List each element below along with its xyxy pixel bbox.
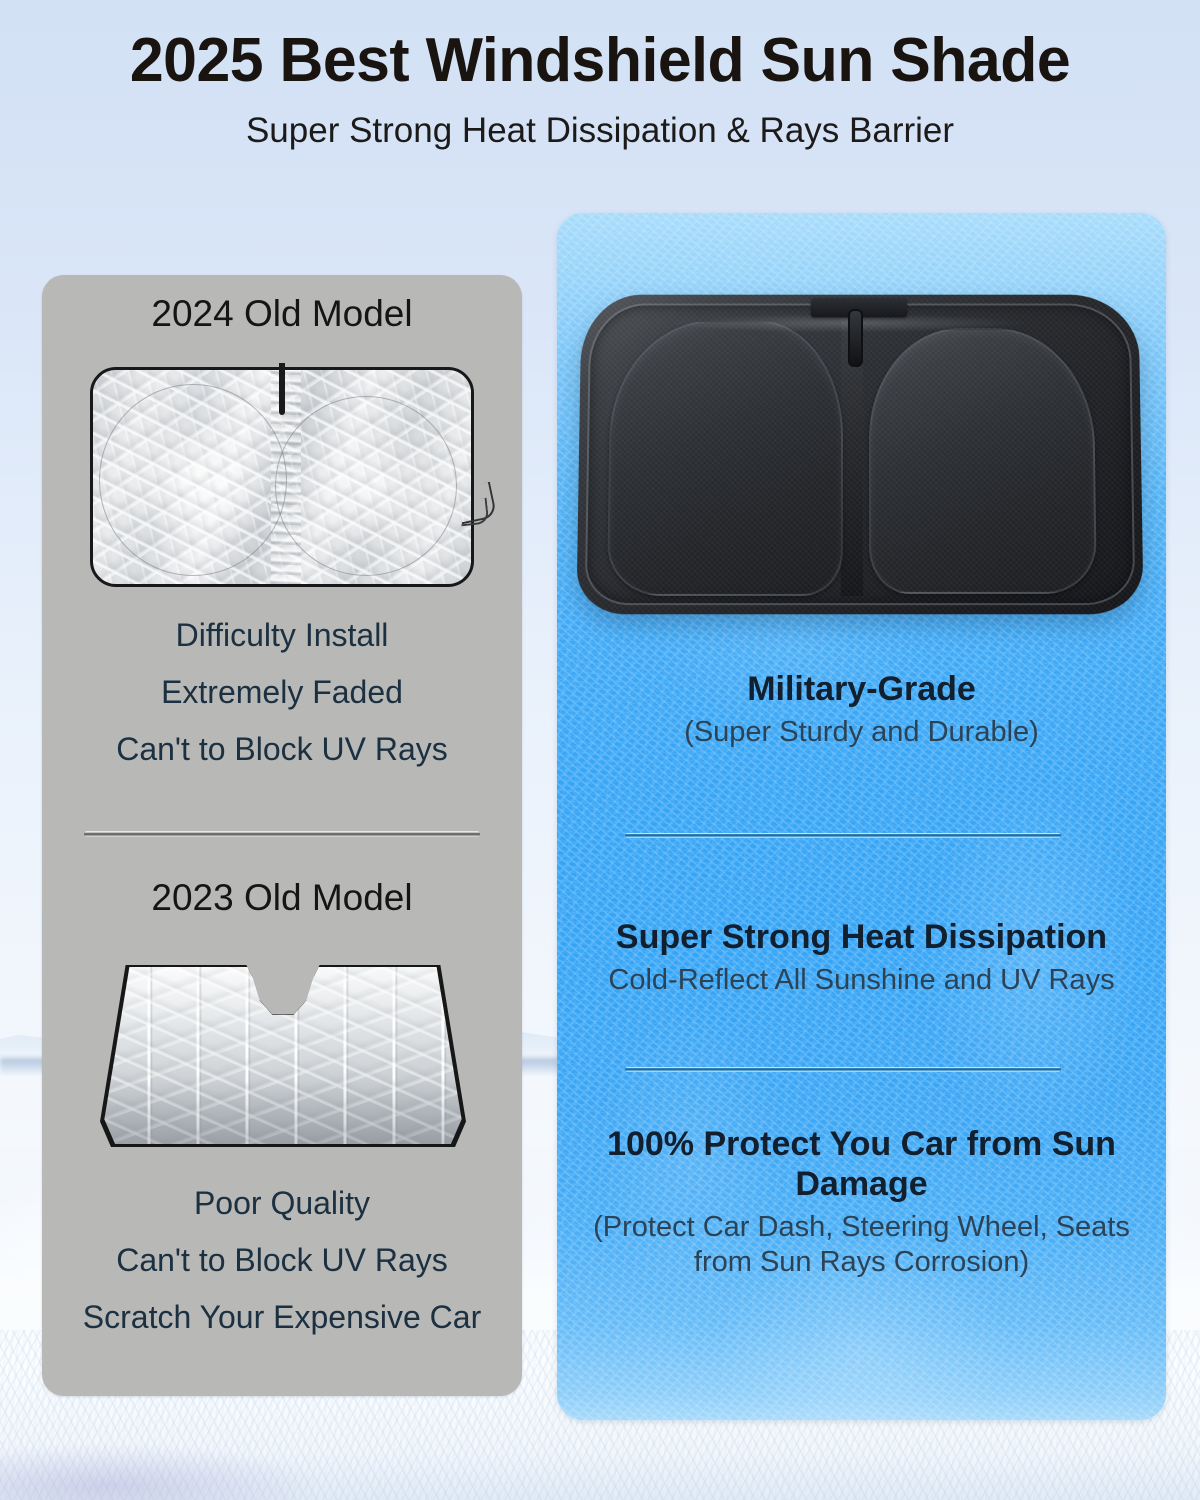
sunshade-2025-image [579,293,1141,613]
old-model-2023-section: 2023 Old Model [42,877,522,919]
bottom-shadow [104,1080,461,1144]
old-panel-divider [84,831,480,837]
left-disc-outline [99,384,287,576]
sunshade-mirror-slot [848,309,863,367]
con-item: Scratch Your Expensive Car [42,1289,522,1346]
sunshade-right-panel [869,328,1097,594]
feature-block-heat-dissipation: Super Strong Heat Dissipation Cold-Refle… [557,918,1166,998]
blue-panel-divider [625,833,1061,838]
sunshade-2023-surface [104,967,461,1144]
con-item: Can't to Block UV Rays [42,721,522,778]
right-disc-outline [275,396,457,576]
feature-subtitle: (Protect Car Dash, Steering Wheel, Seats… [579,1205,1144,1281]
old-model-2023-cons: Poor Quality Can't to Block UV Rays Scra… [42,1175,522,1346]
sunshade-2024-image [90,367,474,587]
old-model-2024-heading: 2024 Old Model [42,293,522,335]
background-shadow-tint [0,1430,360,1500]
con-item: Can't to Block UV Rays [42,1232,522,1289]
feature-title: Super Strong Heat Dissipation [579,918,1144,958]
page-subtitle: Super Strong Heat Dissipation & Rays Bar… [0,93,1200,151]
con-item: Extremely Faded [42,664,522,721]
old-model-2023-heading: 2023 Old Model [42,877,522,919]
sunshade-left-panel [607,320,843,596]
con-item: Poor Quality [42,1175,522,1232]
sunshade-2023-image [100,965,466,1147]
old-model-2024-section: 2024 Old Model [42,293,522,335]
old-model-2024-cons: Difficulty Install Extremely Faded Can't… [42,607,522,778]
blue-panel-divider [625,1067,1061,1072]
center-notch [279,363,285,415]
new-model-panel: Military-Grade (Super Sturdy and Durable… [557,213,1166,1420]
feature-subtitle: (Super Sturdy and Durable) [579,710,1144,750]
product-comparison-poster: 2025 Best Windshield Sun Shade Super Str… [0,0,1200,1500]
page-title: 2025 Best Windshield Sun Shade [12,0,1188,93]
feature-title: Military-Grade [579,670,1144,710]
feature-block-military-grade: Military-Grade (Super Sturdy and Durable… [557,670,1166,750]
feature-subtitle: Cold-Reflect All Sunshine and UV Rays [579,958,1144,998]
loose-strap-secondary [459,498,490,527]
old-models-panel: 2024 Old Model Difficulty Install Extrem… [42,275,522,1396]
poster-header: 2025 Best Windshield Sun Shade Super Str… [0,0,1200,151]
con-item: Difficulty Install [42,607,522,664]
feature-title: 100% Protect You Car from Sun Damage [579,1125,1144,1205]
feature-block-sun-protection: 100% Protect You Car from Sun Damage (Pr… [557,1125,1166,1280]
